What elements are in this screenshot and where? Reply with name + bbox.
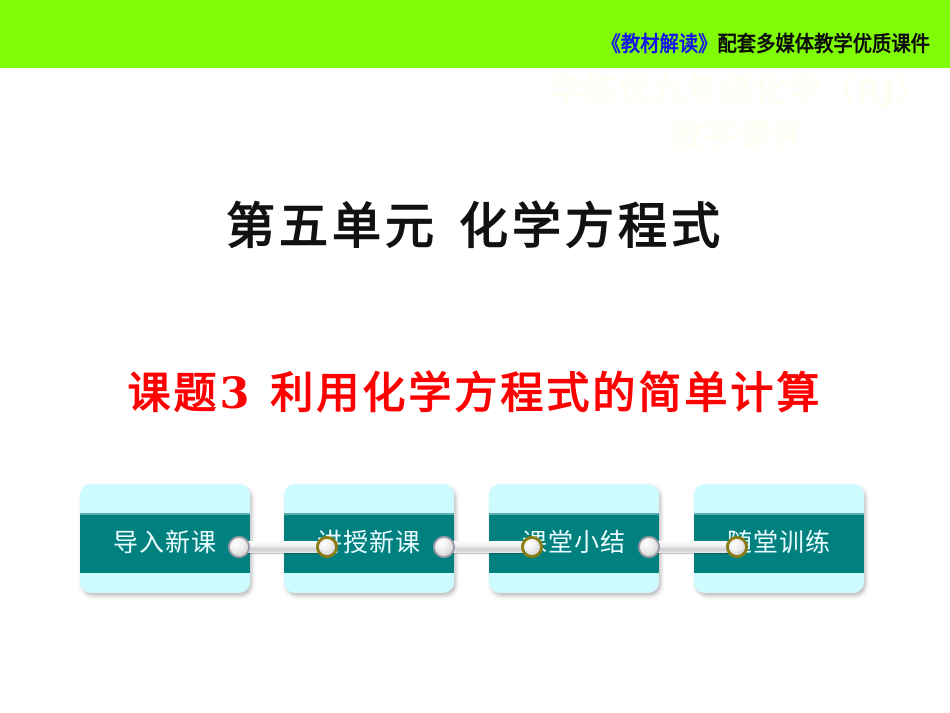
nav-button-class-summary[interactable]: 课堂小结 [489,484,659,593]
nav-button-band: 随堂训练 [694,513,864,573]
nav-button-teach-lesson[interactable]: 讲授新课 [284,484,454,593]
nav-button-band: 讲授新课 [284,513,454,573]
unit-title: 第五单元 化学方程式 [0,196,950,256]
lesson-title: 课题3 利用化学方程式的简单计算 [0,366,950,422]
nav-button-in-class-practice[interactable]: 随堂训练 [694,484,864,593]
watermark-line-1: 学练优九年级化学（RJ） [540,72,940,110]
nav-button-import-lesson[interactable]: 导入新课 [80,484,250,593]
band-highlight [284,513,454,515]
nav-button-label: 随堂训练 [727,529,831,557]
nav-button-band: 课堂小结 [489,513,659,573]
banner-branding: 《教材解读》配套多媒体教学优质课件 [602,32,930,56]
banner-tagline-text: 配套多媒体教学优质课件 [717,32,930,56]
watermark-line-2: 教学课件 [540,116,940,154]
nav-button-band: 导入新课 [80,513,250,573]
banner-brand-text: 《教材解读》 [602,32,718,56]
band-highlight [80,513,250,515]
slide-canvas: 《教材解读》配套多媒体教学优质课件 学练优九年级化学（RJ） 教学课件 第五单元… [0,0,950,713]
band-highlight [489,513,659,515]
nav-button-label: 讲授新课 [317,529,421,557]
navigation-row: 导入新课 讲授新课 课堂小结 随堂训练 [80,484,875,596]
watermark: 学练优九年级化学（RJ） 教学课件 [540,72,940,154]
nav-button-label: 导入新课 [113,529,217,557]
nav-button-label: 课堂小结 [522,529,626,557]
band-highlight [694,513,864,515]
